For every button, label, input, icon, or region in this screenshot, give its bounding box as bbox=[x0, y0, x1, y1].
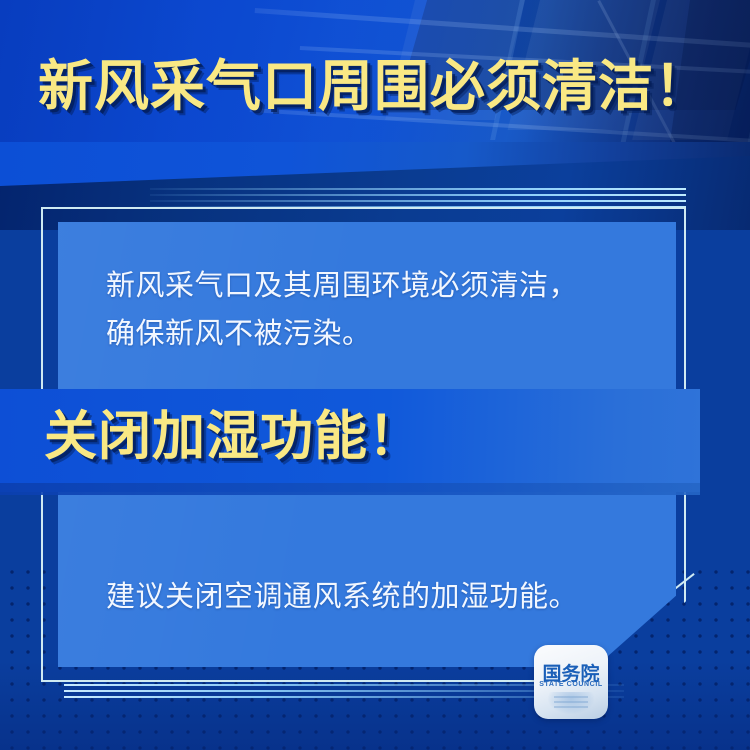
headline-secondary-band-edge bbox=[0, 483, 700, 495]
poster-root: 新风采气口周围必须清洁！ 新风采气口及其周围环境必须清洁， 确保新风不被污染。 … bbox=[0, 0, 750, 750]
badge-seal-emblem bbox=[548, 692, 594, 714]
state-council-badge: 国务院 STATE COUNCIL bbox=[534, 645, 608, 719]
headline-secondary: 关闭加湿功能！ bbox=[44, 404, 422, 470]
body-text-secondary: 建议关闭空调通风系统的加湿功能。 bbox=[106, 573, 646, 621]
body-text-primary: 新风采气口及其周围环境必须清洁， 确保新风不被污染。 bbox=[106, 262, 646, 358]
badge-english-label: STATE COUNCIL bbox=[534, 681, 608, 688]
headline-primary: 新风采气口周围必须清洁！ bbox=[38, 53, 710, 119]
